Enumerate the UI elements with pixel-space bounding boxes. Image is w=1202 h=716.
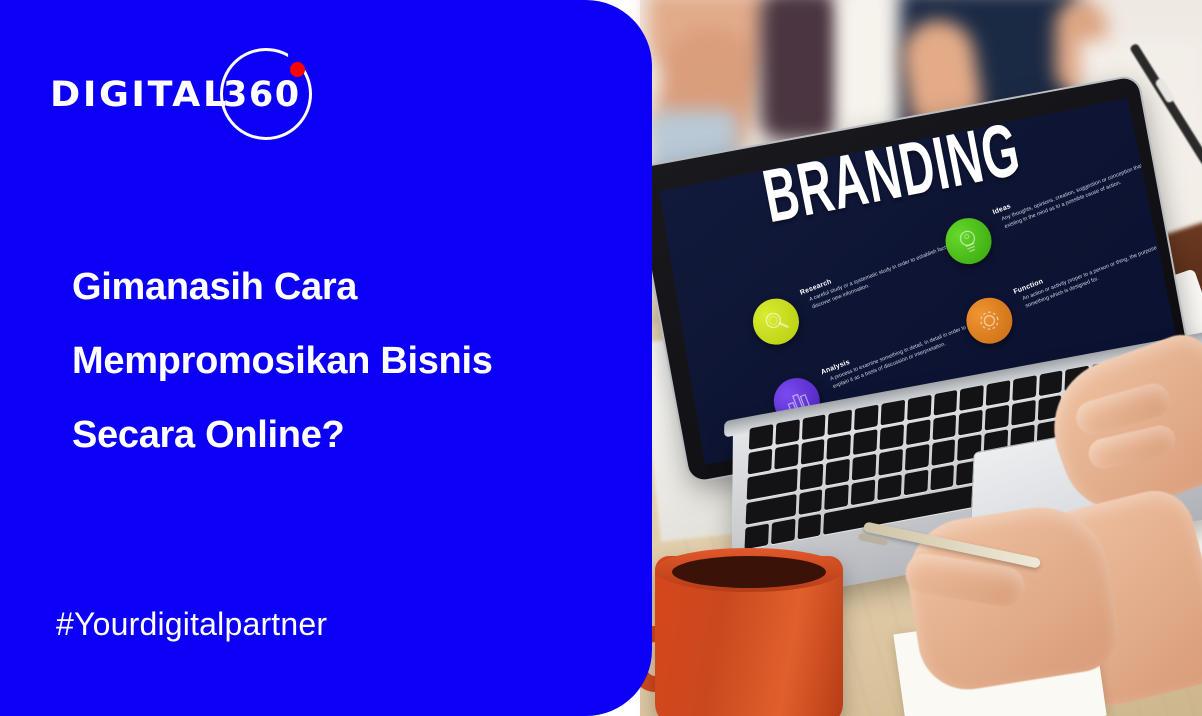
lightbulb-icon xyxy=(939,211,998,270)
gear-icon xyxy=(960,291,1019,350)
item-desc: A careful study or a systematic study in… xyxy=(802,238,965,314)
screen-item-function: Function An action or activity proper to… xyxy=(960,225,1175,307)
red-dot-icon xyxy=(290,62,305,77)
promo-banner: BRANDING Research A careful study or a s xyxy=(0,0,1202,716)
item-desc: An action or activity proper to a person… xyxy=(1016,237,1179,313)
mug-interior xyxy=(672,556,826,588)
page-title: Gimanasih Cara Mempromosikan Bisnis Seca… xyxy=(72,250,602,472)
magnifier-icon xyxy=(746,292,805,351)
blue-content-panel: DIGITAL 360 Gimanasih Cara Mempromosikan… xyxy=(0,0,652,716)
headline-line-3: Secara Online? xyxy=(72,398,602,472)
digital-360-logo[interactable]: DIGITAL 360 xyxy=(48,46,308,142)
logo-wordmark: DIGITAL xyxy=(50,75,229,115)
hashtag-tagline: #Yourdigitalpartner xyxy=(56,606,327,643)
logo-number: 360 xyxy=(223,75,301,115)
screen-item-analysis: Analysis A process to examine something … xyxy=(767,305,982,387)
headline-line-1: Gimanasih Cara xyxy=(72,250,602,324)
background-chair xyxy=(760,0,840,140)
headline-line-2: Mempromosikan Bisnis xyxy=(72,324,602,398)
